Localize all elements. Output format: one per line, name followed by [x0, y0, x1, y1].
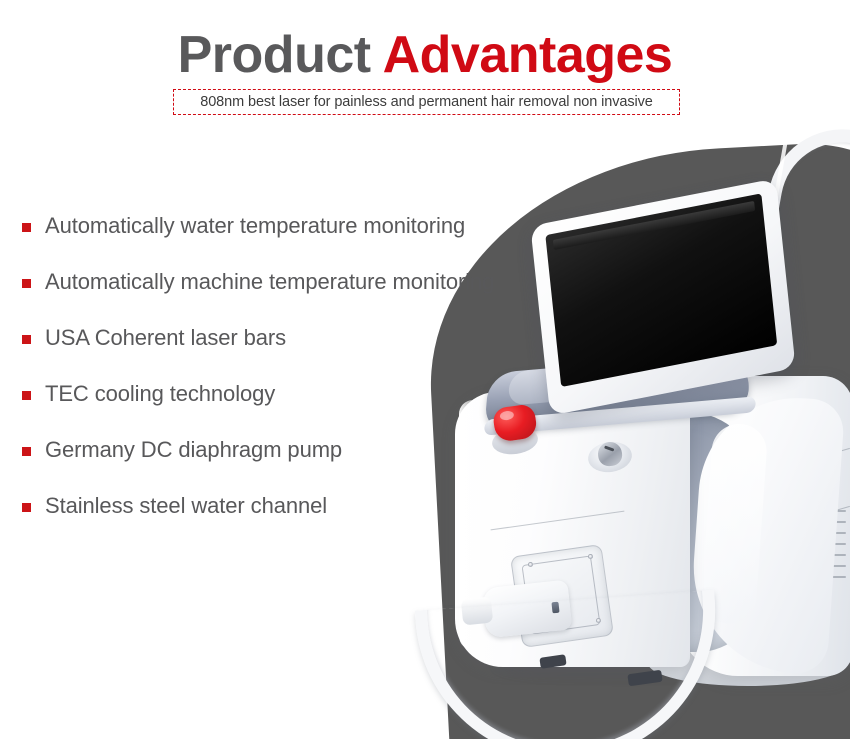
subtitle-banner: 808nm best laser for painless and perman…	[173, 89, 680, 115]
list-item: TEC cooling technology	[22, 381, 582, 407]
product-advantages-page: Product Advantages 808nm best laser for …	[0, 0, 850, 739]
feature-label: TEC cooling technology	[45, 381, 275, 407]
screw-icon	[528, 562, 533, 567]
square-bullet-icon	[22, 503, 31, 512]
feature-label: Automatically machine temperature monito…	[45, 269, 494, 295]
feature-label: USA Coherent laser bars	[45, 325, 286, 351]
feature-label: Stainless steel water channel	[45, 493, 327, 519]
feature-list: Automatically water temperature monitori…	[22, 213, 582, 519]
page-title-primary: Product	[178, 26, 383, 84]
list-item: Automatically machine temperature monito…	[22, 269, 582, 295]
square-bullet-icon	[22, 447, 31, 456]
list-item: USA Coherent laser bars	[22, 325, 582, 351]
page-title-accent: Advantages	[383, 26, 673, 84]
list-item: Stainless steel water channel	[22, 493, 582, 519]
screw-icon	[588, 554, 593, 559]
page-header: Product Advantages 808nm best laser for …	[0, 0, 850, 130]
square-bullet-icon	[22, 391, 31, 400]
square-bullet-icon	[22, 279, 31, 288]
page-title: Product Advantages	[0, 26, 850, 84]
feature-label: Germany DC diaphragm pump	[45, 437, 342, 463]
feature-label: Automatically water temperature monitori…	[45, 213, 465, 239]
square-bullet-icon	[22, 335, 31, 344]
list-item: Automatically water temperature monitori…	[22, 213, 582, 239]
subtitle-text: 808nm best laser for painless and perman…	[200, 94, 653, 110]
handpiece-cable-loop	[415, 590, 725, 739]
square-bullet-icon	[22, 223, 31, 232]
list-item: Germany DC diaphragm pump	[22, 437, 582, 463]
